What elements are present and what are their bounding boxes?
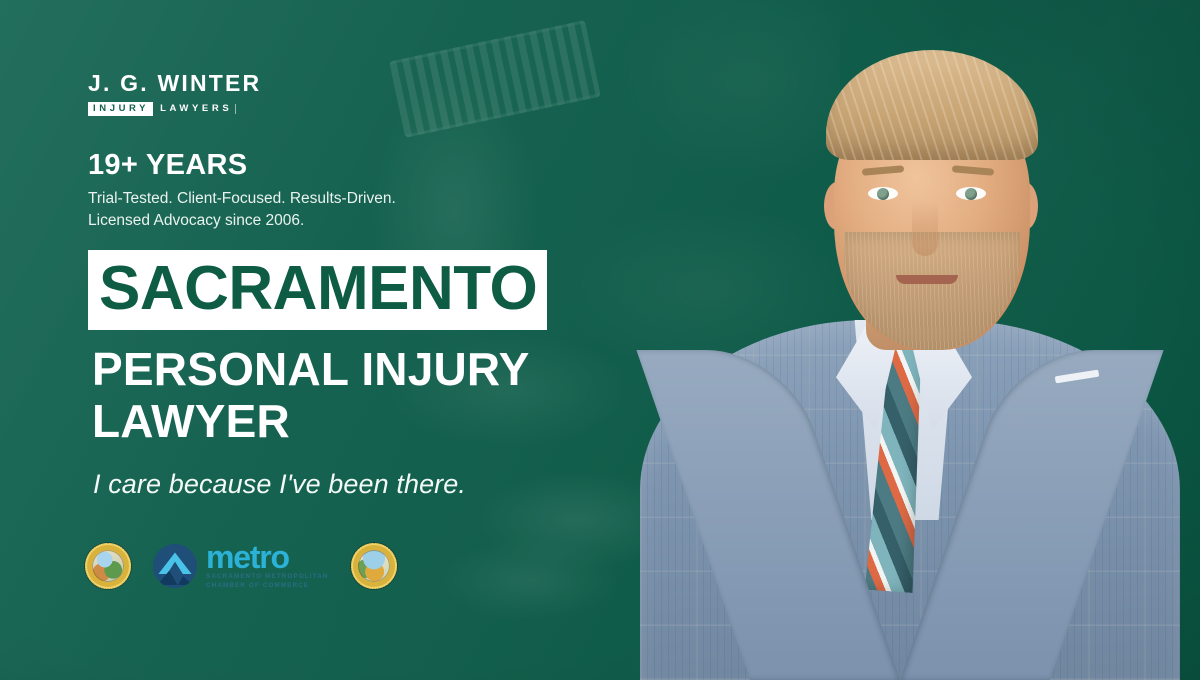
- affiliation-badges: metro SACRAMENTO METROPOLITAN CHAMBER OF…: [85, 543, 397, 590]
- headline-line-3: LAWYER: [92, 396, 547, 448]
- years-headline: 19+ YEARS: [88, 150, 396, 182]
- headline-city: SACRAMENTO: [88, 250, 547, 330]
- firm-logo-lawyers-tag: LAWYERS: [160, 104, 236, 114]
- nose: [912, 200, 938, 256]
- metro-mark-icon: [153, 544, 197, 588]
- seal-ring-text-right: [351, 543, 397, 589]
- firm-logo-injury-tag: INJURY: [88, 102, 153, 116]
- seal-ring-text-left: [85, 543, 131, 589]
- metro-word-text: metro: [206, 543, 329, 571]
- hair: [826, 50, 1038, 160]
- metro-chamber-logo[interactable]: metro SACRAMENTO METROPOLITAN CHAMBER OF…: [153, 543, 329, 590]
- state-seal-right-icon: [351, 543, 397, 589]
- firm-logo[interactable]: J. G. WINTER INJURY LAWYERS: [88, 72, 261, 116]
- hair-texture: [826, 50, 1038, 160]
- headline-city-wrap: SACRAMENTO: [88, 250, 547, 330]
- headline-block: SACRAMENTO PERSONAL INJURY LAWYER I care…: [88, 250, 547, 500]
- experience-line-2: Licensed Advocacy since 2006.: [88, 210, 396, 232]
- metro-mountain-shape: [157, 565, 193, 585]
- firm-logo-name: J. G. WINTER: [88, 72, 261, 95]
- metro-arc-shape: [158, 552, 192, 574]
- mouth: [896, 275, 958, 284]
- eye-left: [868, 187, 898, 200]
- hero-content: J. G. WINTER INJURY LAWYERS 19+ YEARS Tr…: [0, 0, 640, 680]
- city-seal-left-icon: [85, 543, 131, 589]
- hero-banner: J. G. WINTER INJURY LAWYERS 19+ YEARS Tr…: [0, 0, 1200, 680]
- firm-logo-subline: INJURY LAWYERS: [88, 102, 261, 116]
- headline-tagline: I care because I've been there.: [93, 469, 547, 500]
- iris-right: [965, 188, 977, 200]
- experience-block: 19+ YEARS Trial-Tested. Client-Focused. …: [88, 150, 396, 233]
- iris-left: [877, 188, 889, 200]
- metro-subtitle-2: CHAMBER OF COMMERCE: [206, 582, 329, 590]
- experience-line-1: Trial-Tested. Client-Focused. Results-Dr…: [88, 188, 396, 210]
- attorney-portrait: [600, 0, 1200, 680]
- metro-subtitle-1: SACRAMENTO METROPOLITAN: [206, 573, 329, 581]
- metro-wordmark: metro SACRAMENTO METROPOLITAN CHAMBER OF…: [206, 543, 329, 590]
- headline-line-2: PERSONAL INJURY: [92, 344, 547, 396]
- eye-right: [956, 187, 986, 200]
